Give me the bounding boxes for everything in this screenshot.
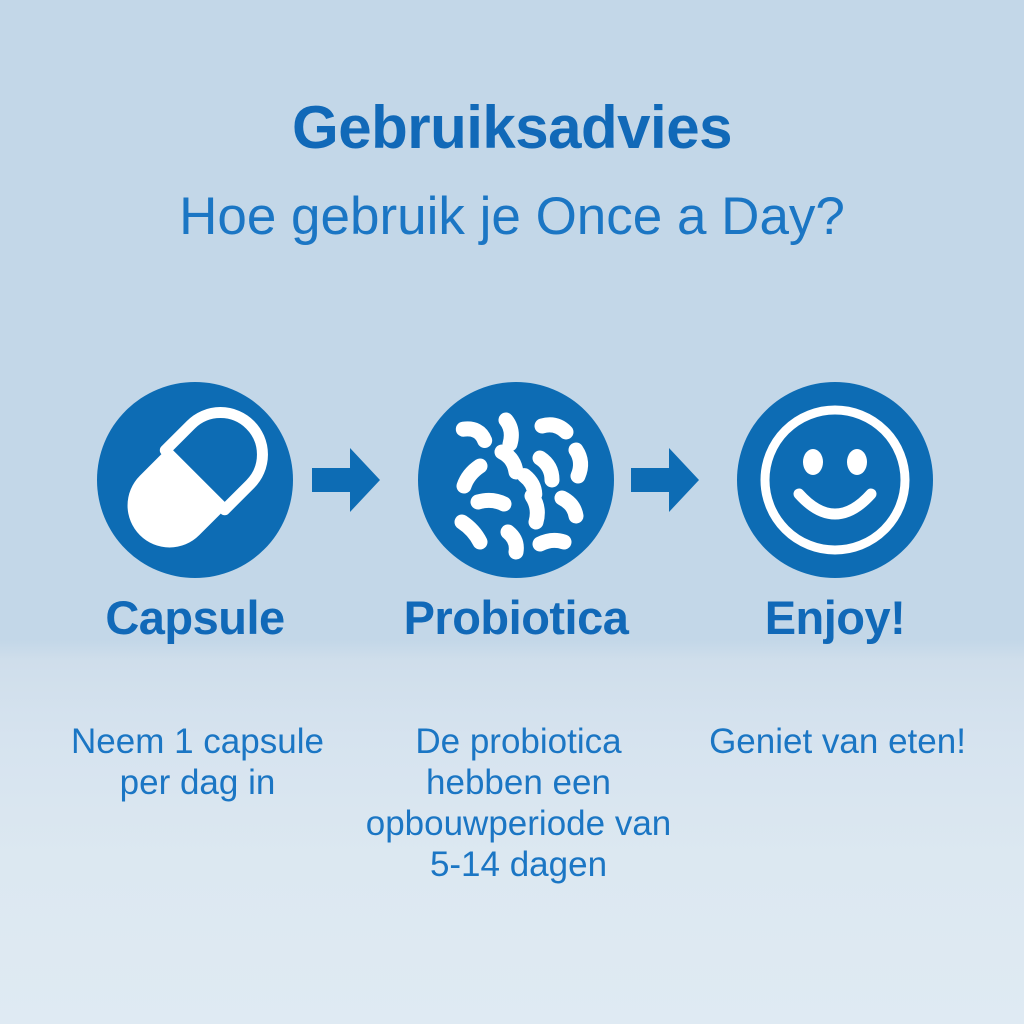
arrow-right-icon bbox=[629, 444, 701, 516]
step-2-icon-circle bbox=[418, 382, 614, 578]
connector-arrow-1 bbox=[310, 444, 382, 516]
page-title: Gebruiksadvies bbox=[0, 96, 1024, 159]
smiley-face-icon bbox=[737, 382, 933, 578]
step-2-description: De probiotica hebben een opbouwperiode v… bbox=[356, 722, 681, 886]
probiotic-bacteria-icon bbox=[418, 382, 614, 578]
step-3-label: Enjoy! bbox=[685, 592, 985, 644]
arrow-right-icon bbox=[310, 444, 382, 516]
connector-arrow-2 bbox=[629, 444, 701, 516]
step-icon-row bbox=[0, 382, 1024, 578]
step-3-icon-circle bbox=[737, 382, 933, 578]
step-1-label: Capsule bbox=[45, 592, 345, 644]
capsule-icon bbox=[97, 382, 293, 578]
usage-advice-infographic: Gebruiksadvies Hoe gebruik je Once a Day… bbox=[0, 0, 1024, 1024]
step-1-icon-circle bbox=[97, 382, 293, 578]
step-1-description: Neem 1 capsule per dag in bbox=[55, 722, 340, 804]
page-subtitle: Hoe gebruik je Once a Day? bbox=[0, 188, 1024, 246]
step-2-label: Probiotica bbox=[366, 592, 666, 644]
step-label-row: Capsule Probiotica Enjoy! bbox=[0, 592, 1024, 652]
step-3-description: Geniet van eten! bbox=[700, 722, 975, 763]
